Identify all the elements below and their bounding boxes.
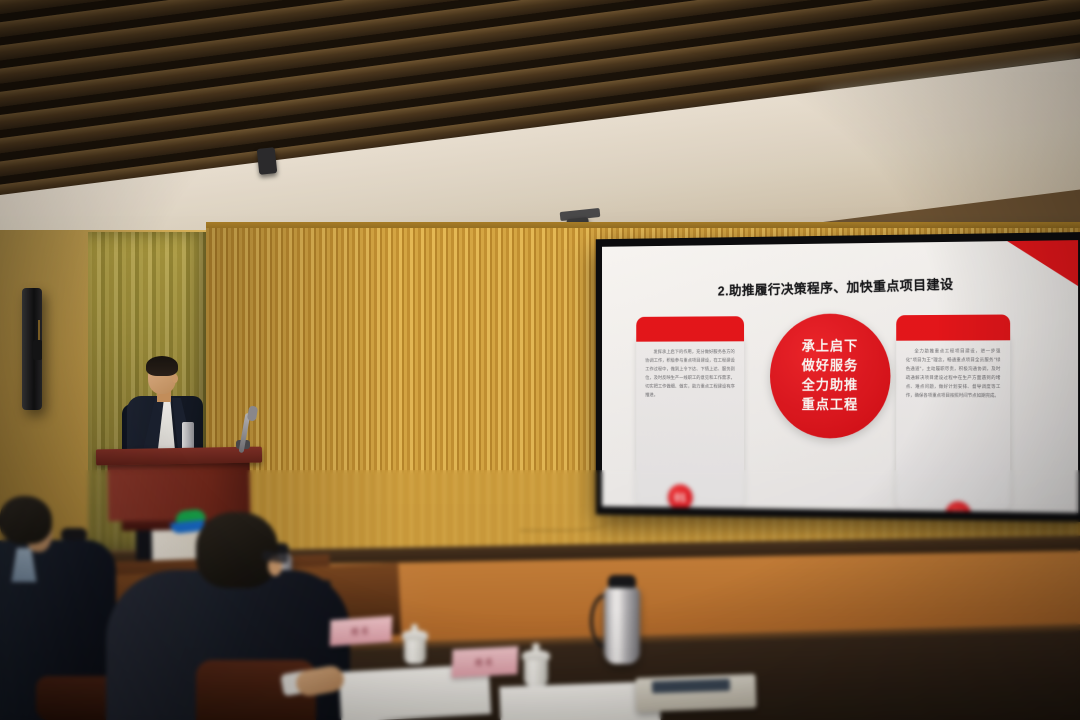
name-card-text: 姓名 bbox=[475, 656, 495, 668]
presentation-slide: 2.助推履行决策程序、加快重点项目建设 发挥承上启下的作用，充分做好服务各方的协… bbox=[602, 240, 1078, 513]
speaker-wire bbox=[38, 320, 40, 342]
name-card-text: 姓名 bbox=[351, 625, 371, 637]
podium-top bbox=[96, 447, 262, 466]
teacup-lid bbox=[402, 630, 428, 640]
thermos-flask bbox=[604, 586, 640, 664]
conference-room-photo: 2.助推履行决策程序、加快重点项目建设 发挥承上启下的作用，充分做好服务各方的协… bbox=[0, 0, 1080, 720]
thermos-cap bbox=[61, 528, 87, 540]
center-line-3: 全力助推 bbox=[802, 376, 858, 395]
card-cap bbox=[636, 316, 744, 341]
podium-water-cup bbox=[182, 422, 194, 450]
thermos-cap bbox=[608, 575, 636, 588]
card-cap bbox=[896, 314, 1010, 340]
teacup-lid bbox=[522, 650, 550, 660]
wall-cable bbox=[520, 512, 610, 531]
center-line-2: 做好服务 bbox=[802, 357, 858, 376]
slide-card-02: 全力助推重点工程项目建设，进一步强化"项目为王"理念，畅通重点项目全员服务"绿色… bbox=[896, 332, 1010, 511]
slide-title: 2.助推履行决策程序、加快重点项目建设 bbox=[602, 269, 1078, 302]
presenter-ear bbox=[172, 374, 178, 383]
center-line-4: 重点工程 bbox=[802, 395, 858, 415]
speaker-control-panel bbox=[33, 340, 42, 360]
slide-center-circle: 承上启下 做好服务 全力助推 重点工程 bbox=[770, 313, 890, 438]
attendee-left-head bbox=[0, 496, 52, 544]
teacup-knob bbox=[411, 624, 418, 631]
slide-card-01: 发挥承上启下的作用，充分做好服务各方的协调工作，积极参与重点项目建设，在工程建设… bbox=[636, 334, 744, 508]
card-body-text: 发挥承上启下的作用，充分做好服务各方的协调工作，积极参与重点项目建设，在工程建设… bbox=[645, 349, 735, 401]
presenter-hair bbox=[146, 356, 178, 376]
teacup bbox=[524, 658, 548, 686]
projection-screen[interactable]: 2.助推履行决策程序、加快重点项目建设 发挥承上启下的作用，充分做好服务各方的协… bbox=[596, 232, 1080, 522]
teacup-knob bbox=[532, 643, 540, 651]
card-badge-01: 01 bbox=[668, 484, 693, 510]
name-card: 姓名 bbox=[452, 646, 519, 678]
name-card: 姓名 bbox=[330, 616, 393, 646]
teacup bbox=[404, 638, 426, 664]
ceiling-camera-icon bbox=[257, 147, 278, 175]
card-body-text: 全力助推重点工程项目建设，进一步强化"项目为王"理念，畅通重点项目全员服务"绿色… bbox=[906, 348, 1001, 401]
center-line-1: 承上启下 bbox=[802, 337, 858, 357]
